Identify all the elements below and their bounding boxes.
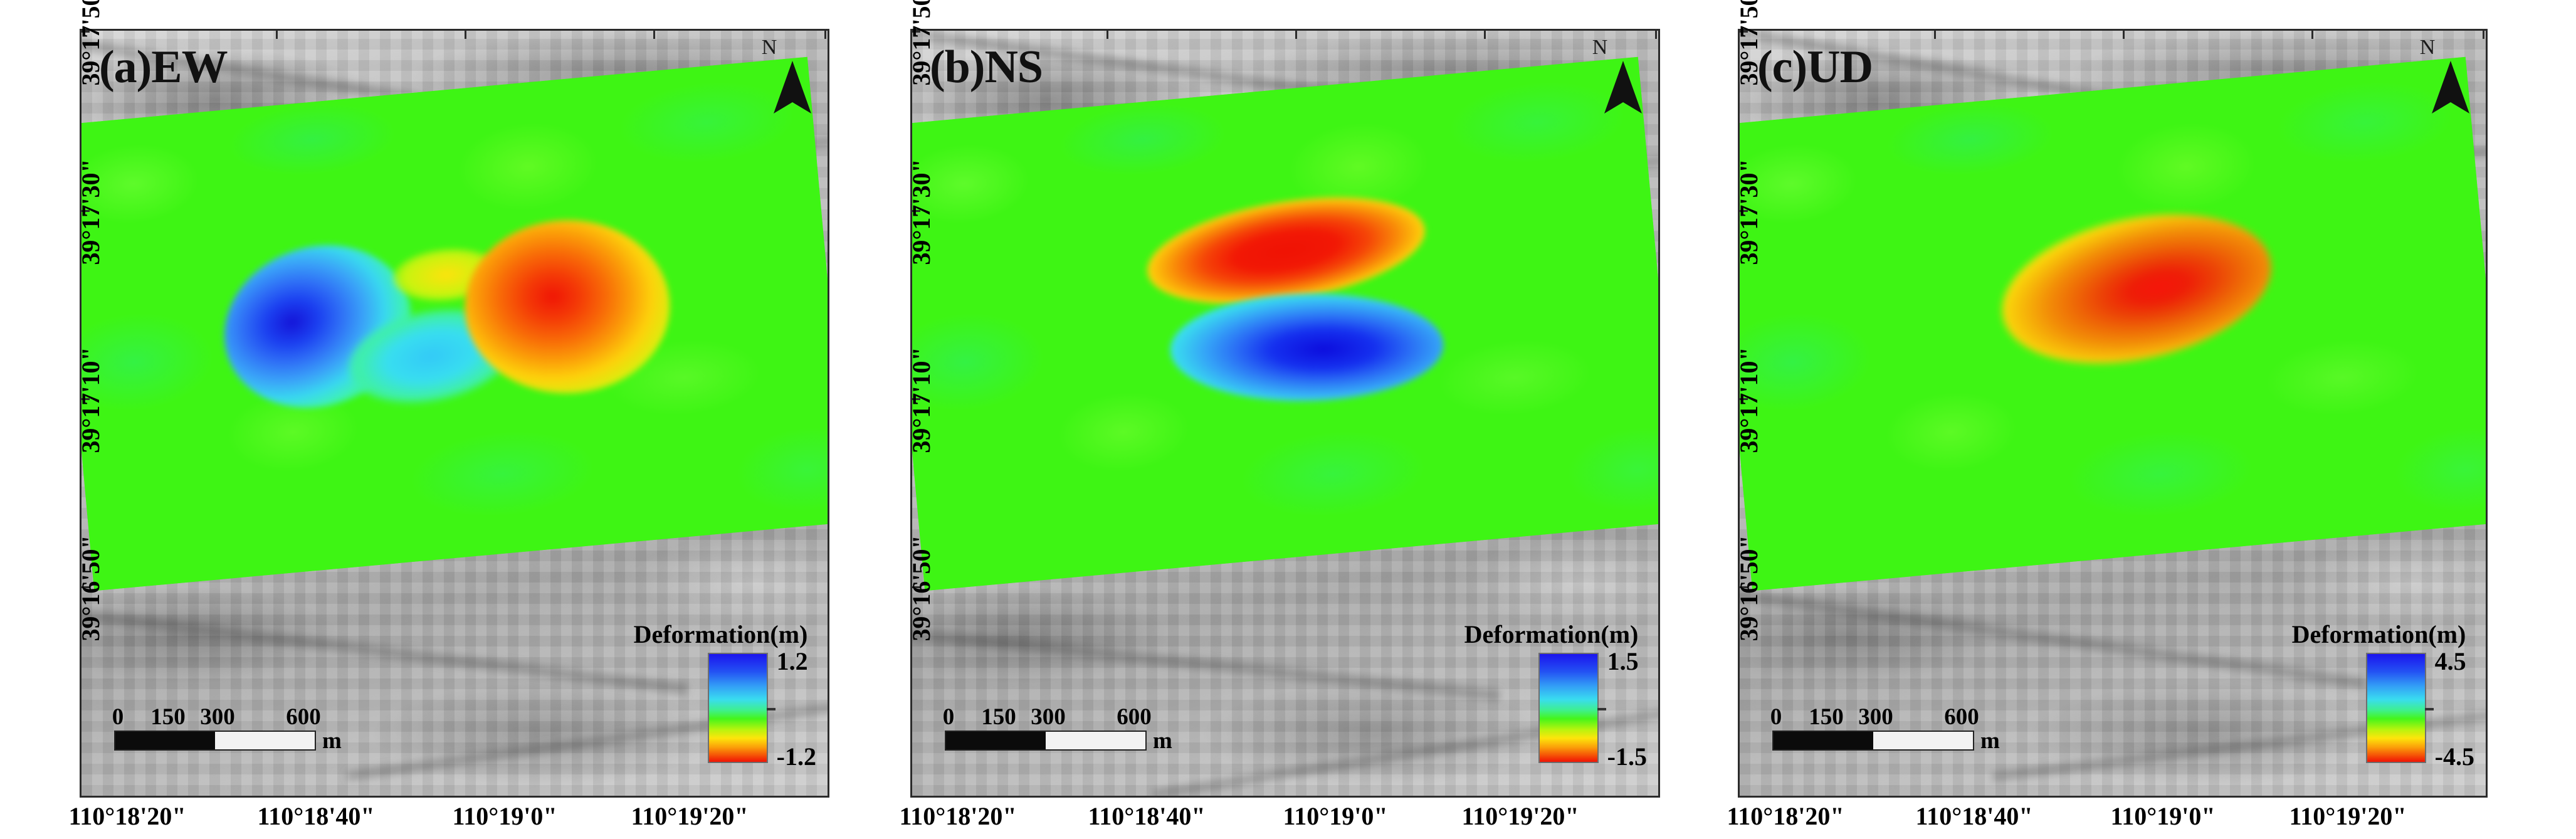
legend-title: Deformation(m) (2292, 620, 2474, 649)
scale-bar-ns: 0 150 300 600 m (945, 703, 1183, 751)
colorbar-mid-tick (767, 708, 775, 710)
scale-bar-unit: m (1980, 727, 2000, 754)
y-tick-label-2: 39°17'10" (907, 347, 936, 453)
scale-bar-value-300: 300 (200, 704, 235, 731)
y-tick-label-0: 39°17'50" (1734, 0, 1764, 86)
panel-ew: (a)EW N 0 150 300 600 m (0, 0, 840, 839)
scale-bar-graphic (1772, 731, 1974, 751)
x-tick-label-1: 110°18'40" (1915, 801, 2032, 831)
colorbar-gradient-ew (708, 653, 768, 763)
legend-ns: Deformation(m) 1.5 -1.5 (1464, 620, 1647, 763)
colorbar-max-value-ns: 1.5 (1607, 649, 1647, 674)
scale-bar-value-0: 0 (112, 704, 124, 731)
x-tick-label-2: 110°19'0" (2110, 801, 2215, 831)
scale-bar-graphic (114, 731, 316, 751)
x-tick-label-0: 110°18'20" (68, 801, 186, 831)
scale-bar-unit: m (322, 727, 342, 754)
x-tick-label-2: 110°19'0" (1283, 801, 1387, 831)
y-tick-label-0: 39°17'50" (76, 0, 105, 86)
north-arrow-label: N (2404, 37, 2451, 58)
y-tick-label-3: 39°16'50" (907, 535, 936, 641)
panel-ud: (c)UD N 0 150 300 600 m (1658, 0, 2498, 839)
colorbar-gradient-ud (2366, 653, 2426, 763)
panel-title-ud: (c)UD (1757, 41, 1873, 94)
scale-bar-numbers: 0 150 300 600 (945, 703, 1183, 731)
scale-bar-value-600: 600 (1944, 704, 1979, 731)
map-frame-ud: (c)UD N 0 150 300 600 m (1738, 29, 2488, 798)
scale-bar-value-600: 600 (1117, 704, 1152, 731)
legend-title: Deformation(m) (634, 620, 816, 649)
panel-title-ew: (a)EW (99, 41, 228, 94)
scale-bar-value-300: 300 (1858, 704, 1893, 731)
scale-bar-ew: 0 150 300 600 m (114, 703, 352, 751)
x-tick-label-1: 110°18'40" (257, 801, 374, 831)
panel-title-ns: (b)NS (930, 41, 1043, 94)
colorbar-mid-tick (2425, 708, 2434, 710)
scale-bar-value-0: 0 (943, 704, 955, 731)
north-arrow-ew: N (746, 37, 792, 61)
colorbar-max-value-ud: 4.5 (2435, 649, 2474, 674)
scale-bar-value-150: 150 (1809, 704, 1844, 731)
scale-bar-value-150: 150 (150, 704, 186, 731)
x-tick-label-3: 110°19'20" (2289, 801, 2406, 831)
scale-bar-ud: 0 150 300 600 m (1772, 703, 2011, 751)
north-arrow-ud: N (2404, 37, 2451, 61)
scale-bar-unit: m (1153, 727, 1172, 754)
scale-bar-value-600: 600 (286, 704, 321, 731)
colorbar-ticks-ew: 1.2 -1.2 (777, 653, 816, 763)
scale-bar-numbers: 0 150 300 600 (114, 703, 352, 731)
y-tick-label-2: 39°17'10" (1734, 347, 1764, 453)
y-tick-label-2: 39°17'10" (76, 347, 105, 453)
x-tick-label-2: 110°19'0" (452, 801, 557, 831)
scale-bar-value-0: 0 (1770, 704, 1782, 731)
map-frame-ew: (a)EW N 0 150 300 600 m (80, 29, 829, 798)
x-tick-label-3: 110°19'20" (1461, 801, 1579, 831)
colorbar-ticks-ud: 4.5 -4.5 (2435, 653, 2474, 763)
deformation-footprint-ud (1738, 57, 2488, 591)
north-arrow-label: N (746, 37, 792, 58)
legend-title: Deformation(m) (1464, 620, 1647, 649)
map-frame-ns: (b)NS N 0 150 300 600 m (910, 29, 1660, 798)
panel-ns: (b)NS N 0 150 300 600 m (831, 0, 1671, 839)
figure-root: (a)EW N 0 150 300 600 m (0, 0, 2576, 839)
legend-ud: Deformation(m) 4.5 -4.5 (2292, 620, 2474, 763)
north-arrow-label: N (1577, 37, 1623, 58)
colorbar-ticks-ns: 1.5 -1.5 (1607, 653, 1647, 763)
x-tick-label-3: 110°19'20" (631, 801, 748, 831)
x-tick-label-0: 110°18'20" (1727, 801, 1844, 831)
scale-bar-numbers: 0 150 300 600 (1772, 703, 2011, 731)
colorbar-min-value-ns: -1.5 (1607, 744, 1647, 769)
legend-ew: Deformation(m) 1.2 -1.2 (634, 620, 816, 763)
scale-bar-value-300: 300 (1031, 704, 1066, 731)
scale-bar-graphic (945, 731, 1147, 751)
y-tick-label-3: 39°16'50" (76, 535, 105, 641)
y-tick-label-1: 39°17'30" (907, 159, 936, 265)
deformation-footprint-ns (910, 57, 1660, 591)
colorbar-max-value-ew: 1.2 (777, 649, 816, 674)
x-tick-label-0: 110°18'20" (899, 801, 1016, 831)
deformation-footprint-ew (80, 57, 829, 591)
north-arrow-ns: N (1577, 37, 1623, 61)
y-tick-label-1: 39°17'30" (1734, 159, 1764, 265)
colorbar-mid-tick (1597, 708, 1606, 710)
y-tick-label-0: 39°17'50" (907, 0, 936, 86)
x-tick-label-1: 110°18'40" (1088, 801, 1205, 831)
y-tick-label-3: 39°16'50" (1734, 535, 1764, 641)
colorbar-min-value-ud: -4.5 (2435, 744, 2474, 769)
colorbar-min-value-ew: -1.2 (777, 744, 816, 769)
colorbar-gradient-ns (1538, 653, 1599, 763)
y-tick-label-1: 39°17'30" (76, 159, 105, 265)
scale-bar-value-150: 150 (981, 704, 1016, 731)
